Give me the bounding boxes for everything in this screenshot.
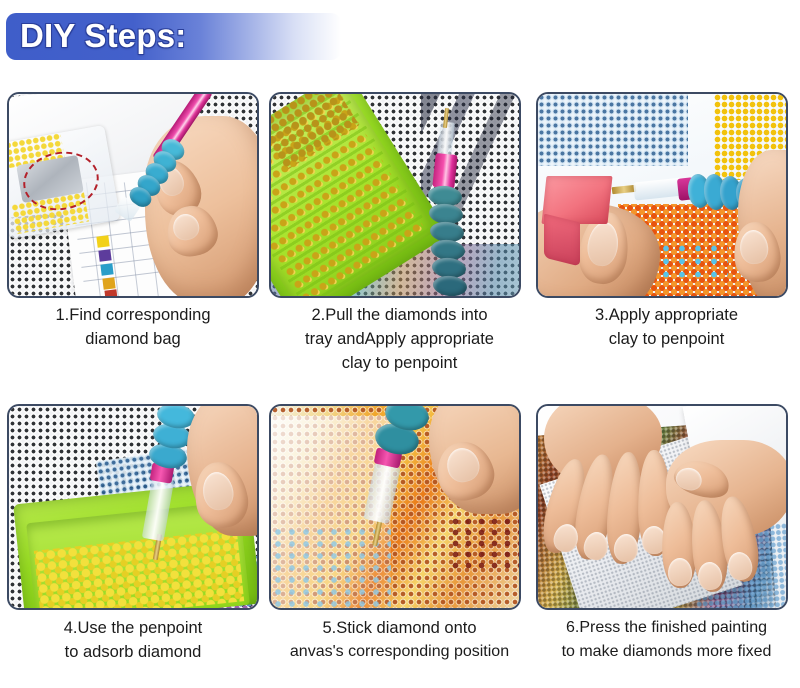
step-photo-5 bbox=[269, 404, 521, 610]
canvas-blue-section bbox=[538, 94, 688, 166]
pen-barrel bbox=[432, 153, 457, 189]
step-card-3: 3.Apply appropriate clay to penpoint bbox=[533, 88, 800, 400]
step-photo-6 bbox=[536, 404, 788, 610]
step-caption-6: 6.Press the finished painting to make di… bbox=[533, 616, 800, 664]
color-swatch bbox=[98, 249, 111, 261]
clay-block-side bbox=[544, 214, 580, 267]
color-swatch bbox=[104, 289, 117, 298]
steps-grid: 1.Find corresponding diamond bag bbox=[0, 88, 800, 688]
color-swatch bbox=[102, 277, 115, 289]
step-photo-4 bbox=[7, 404, 259, 610]
step-card-5: 5.Stick diamond onto anvas's correspondi… bbox=[266, 400, 533, 688]
step-card-4: 4.Use the penpoint to adsorb diamond bbox=[0, 400, 266, 688]
canvas-dark-accents bbox=[449, 516, 521, 572]
color-swatch bbox=[100, 263, 113, 275]
step-card-2: 2.Pull the diamonds into tray andApply a… bbox=[266, 88, 533, 400]
step-caption-4: 4.Use the penpoint to adsorb diamond bbox=[0, 616, 266, 664]
step-caption-5: 5.Stick diamond onto anvas's correspondi… bbox=[266, 616, 533, 664]
page-title: DIY Steps: bbox=[20, 17, 186, 55]
step-caption-2: 2.Pull the diamonds into tray andApply a… bbox=[266, 303, 533, 375]
color-swatch bbox=[96, 235, 109, 247]
fingernail bbox=[668, 558, 693, 587]
diy-steps-infographic: DIY Steps: bbox=[0, 0, 800, 688]
step-card-6: 6.Press the finished painting to make di… bbox=[533, 400, 800, 688]
step-caption-1: 1.Find corresponding diamond bag bbox=[0, 303, 266, 351]
step-photo-1 bbox=[7, 92, 259, 298]
step-photo-2 bbox=[269, 92, 521, 298]
step-card-1: 1.Find corresponding diamond bag bbox=[0, 88, 266, 400]
step-photo-3 bbox=[536, 92, 788, 298]
step-caption-3: 3.Apply appropriate clay to penpoint bbox=[533, 303, 800, 351]
